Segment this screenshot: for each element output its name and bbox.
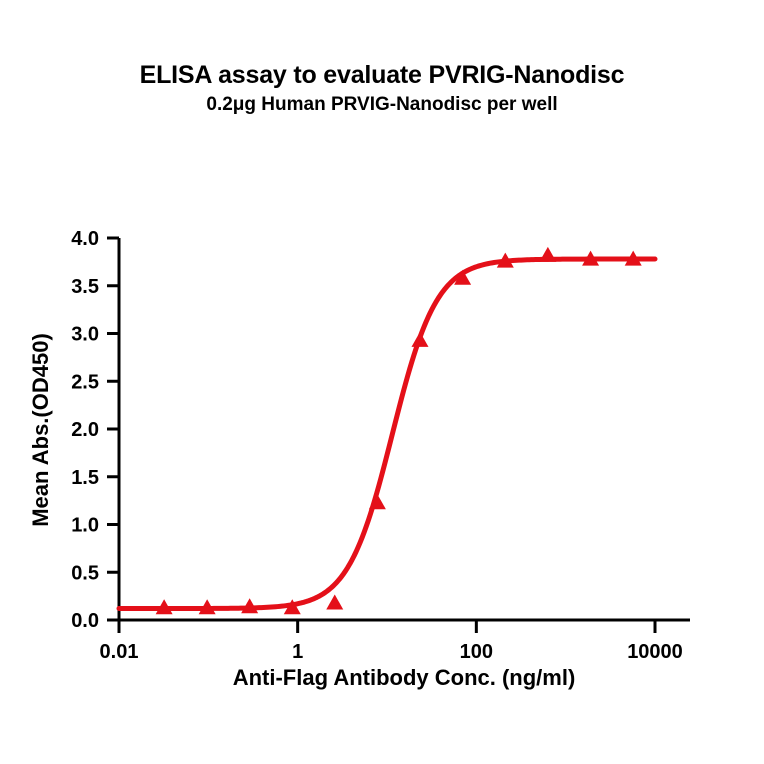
- y-tick-label: 1.5: [71, 467, 99, 489]
- series-fit-curve: [119, 259, 655, 609]
- y-tick-label: 4.0: [71, 228, 99, 250]
- data-point-marker: [369, 494, 386, 509]
- y-tick-label: 3.0: [71, 324, 99, 346]
- x-axis-title: Anti-Flag Antibody Conc. (ng/ml): [233, 665, 576, 690]
- y-tick-label: 2.0: [71, 419, 99, 441]
- data-point-marker: [539, 247, 556, 262]
- x-tick-group: 0.01110010000: [100, 620, 683, 663]
- x-tick-label: 1: [292, 641, 303, 663]
- y-tick-label: 0.5: [71, 562, 99, 584]
- data-point-marker: [411, 332, 428, 347]
- x-tick-label: 0.01: [100, 641, 139, 663]
- y-axis-title: Mean Abs.(OD450): [28, 333, 53, 527]
- y-tick-group: 0.00.51.01.52.02.53.03.54.0: [71, 228, 119, 632]
- data-point-marker: [326, 594, 343, 609]
- axes-group: [119, 238, 690, 620]
- chart-figure: ELISA assay to evaluate PVRIG-Nanodisc 0…: [0, 0, 764, 764]
- plot-area: 0.00.51.01.52.02.53.03.54.0 0.0111001000…: [0, 0, 764, 764]
- y-tick-label: 3.5: [71, 276, 99, 298]
- y-tick-label: 1.0: [71, 515, 99, 537]
- x-tick-label: 100: [460, 641, 493, 663]
- data-series-group: [119, 247, 655, 614]
- x-tick-label: 10000: [627, 641, 683, 663]
- y-tick-label: 2.5: [71, 371, 99, 393]
- y-tick-label: 0.0: [71, 610, 99, 632]
